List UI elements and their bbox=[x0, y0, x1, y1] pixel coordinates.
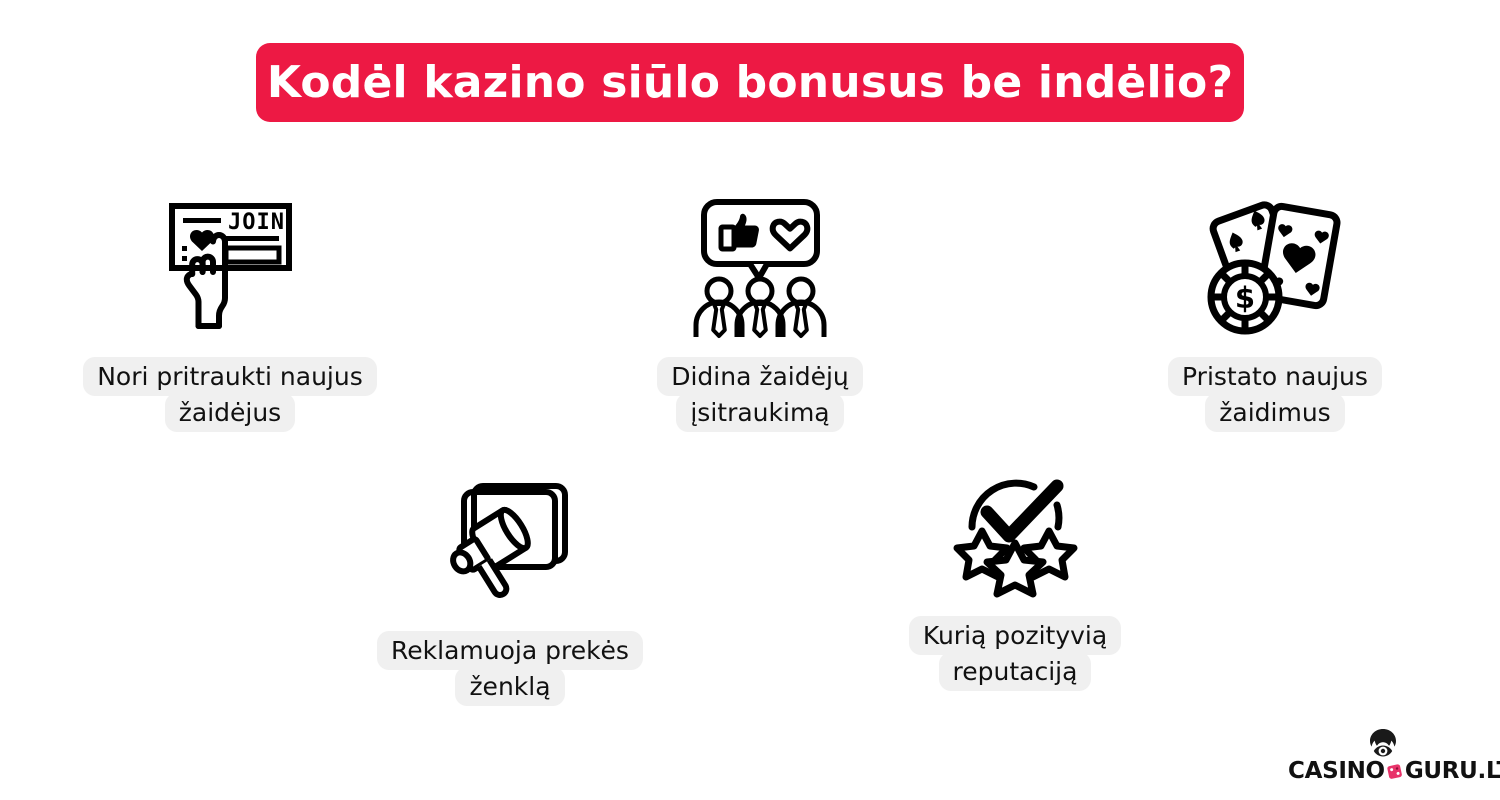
item-brand-label: Reklamuoja prekės ženklą bbox=[377, 633, 643, 706]
item-engagement: Didina žaidėjų įsitraukimą bbox=[620, 196, 900, 432]
cards-and-chip-icon: $ bbox=[1203, 196, 1348, 345]
item-new-players-label: Nori pritraukti naujus žaidėjus bbox=[83, 359, 377, 432]
item-new-players: JOIN Nori pritraukti naujus žaidėjus bbox=[65, 196, 395, 432]
item-reputation-label: Kurią pozityvią reputaciją bbox=[909, 618, 1121, 691]
item-reputation-label-line1: Kurią pozityvią bbox=[909, 616, 1121, 655]
item-engagement-label-line1: Didina žaidėjų bbox=[657, 357, 863, 396]
item-reputation: Kurią pozityvią reputaciją bbox=[875, 455, 1155, 691]
audience-feedback-icon bbox=[688, 196, 833, 345]
item-new-games-label-line1: Pristato naujus bbox=[1168, 357, 1382, 396]
casino-guru-logo[interactable]: CASINO GURU.LT bbox=[1288, 728, 1478, 786]
item-new-players-label-line2: žaidėjus bbox=[165, 393, 295, 432]
join-form-click-icon: JOIN bbox=[158, 196, 303, 345]
item-new-games-label-line2: žaidimus bbox=[1205, 393, 1344, 432]
item-new-players-label-line1: Nori pritraukti naujus bbox=[83, 357, 377, 396]
item-reputation-label-line2: reputaciją bbox=[939, 652, 1092, 691]
dice-icon bbox=[1386, 762, 1404, 780]
logo-wordmark: CASINO GURU.LT bbox=[1288, 758, 1478, 784]
item-new-games-label: Pristato naujus žaidimus bbox=[1168, 359, 1382, 432]
item-brand-label-line1: Reklamuoja prekės bbox=[377, 631, 643, 670]
page-title-banner: Kodėl kazino siūlo bonusus be indėlio? bbox=[256, 43, 1244, 122]
svg-text:JOIN: JOIN bbox=[228, 210, 285, 235]
page-title: Kodėl kazino siūlo bonusus be indėlio? bbox=[267, 61, 1233, 105]
checkmark-stars-icon bbox=[943, 455, 1088, 604]
item-engagement-label-line2: įsitraukimą bbox=[676, 393, 843, 432]
logo-word-casino: CASINO bbox=[1288, 760, 1385, 783]
megaphone-icon bbox=[438, 470, 583, 619]
logo-word-guru: GURU.LT bbox=[1405, 760, 1500, 783]
item-new-games: $ Pristato naujus žaidimus bbox=[1135, 196, 1415, 432]
item-brand-label-line2: ženklą bbox=[455, 667, 564, 706]
item-brand: Reklamuoja prekės ženklą bbox=[345, 470, 675, 706]
svg-text:$: $ bbox=[1234, 281, 1254, 315]
item-engagement-label: Didina žaidėjų įsitraukimą bbox=[657, 359, 863, 432]
